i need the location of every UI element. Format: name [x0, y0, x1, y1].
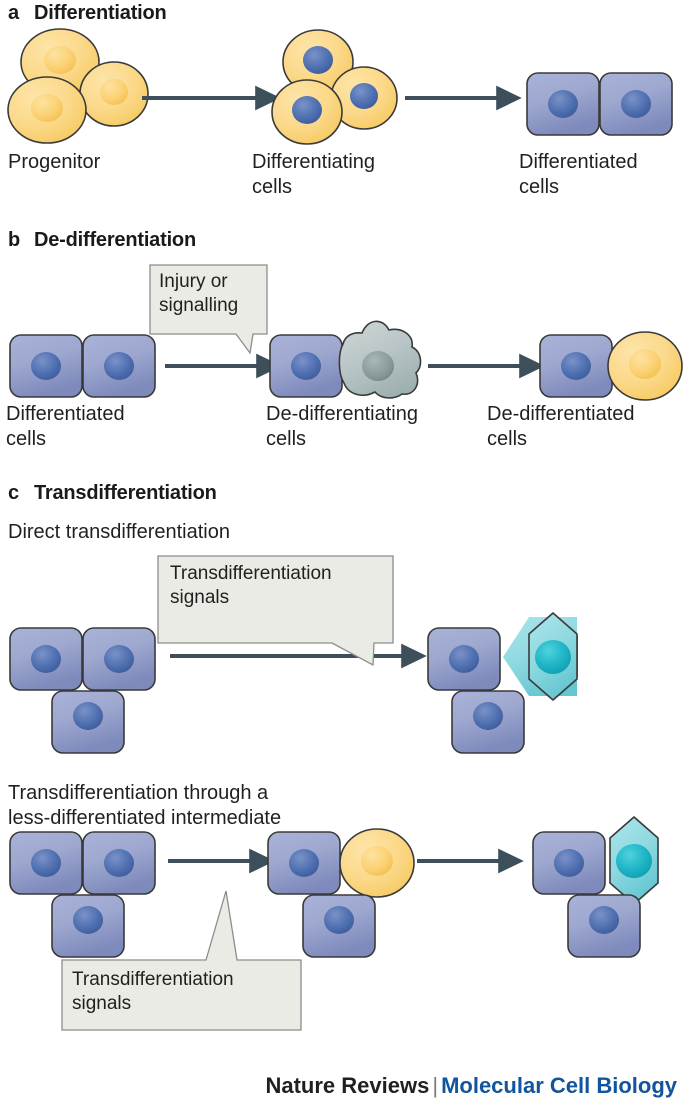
label-differentiated-cells-a: Differentiated cells [519, 150, 638, 200]
callout-text-transdiff-1: Transdifferentiation signals [170, 562, 332, 610]
panel-b-letter: b [8, 229, 20, 252]
cells-differentiated-b [10, 335, 155, 397]
label-differentiated-cells-b: Differentiated cells [6, 402, 125, 452]
subheading-via-intermediate: Transdifferentiation through a less-diff… [8, 781, 281, 831]
callout-text-injury: Injury or signalling [159, 270, 238, 318]
panel-c-letter: c [8, 482, 19, 505]
cells-dedifferentiated [540, 332, 682, 400]
label-differentiating-cells: Differentiating cells [252, 150, 375, 200]
cells-direct-result [428, 613, 577, 753]
cells-differentiated-a [527, 73, 672, 135]
label-dedifferentiating-cells: De-differentiating cells [266, 402, 418, 452]
label-dedifferentiated-cells: De-differentiated cells [487, 402, 635, 452]
subheading-direct-transdifferentiation: Direct transdifferentiation [8, 520, 230, 545]
panel-b-heading: De-differentiation [34, 229, 196, 252]
panel-c-heading: Transdifferentiation [34, 482, 217, 505]
cells-inter-result [533, 817, 658, 957]
cells-inter-middle [268, 829, 414, 957]
journal-name: Molecular Cell Biology [441, 1073, 677, 1098]
cells-direct-source [10, 628, 155, 753]
figure-root: a Differentiation [0, 0, 685, 1107]
label-progenitor: Progenitor [8, 150, 100, 175]
cells-inter-source [10, 832, 155, 957]
journal-branding: Nature Reviews|Molecular Cell Biology [265, 1073, 677, 1099]
journal-separator: | [429, 1073, 441, 1098]
cells-differentiating [272, 30, 397, 144]
journal-series: Nature Reviews [265, 1073, 429, 1098]
callout-text-transdiff-2: Transdifferentiation signals [72, 968, 234, 1016]
cells-progenitor [8, 29, 148, 143]
cells-dedifferentiating [270, 321, 421, 398]
